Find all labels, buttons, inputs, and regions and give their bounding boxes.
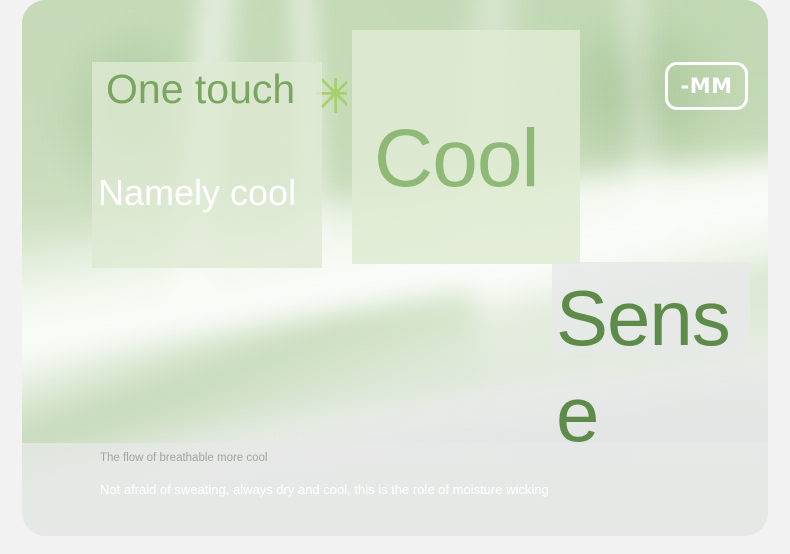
fabric-photo: ✳ One touch Namely cool Cool Sense -MM T… <box>22 0 768 536</box>
headline-cool: Cool <box>374 118 539 200</box>
promo-banner-root: ✳ One touch Namely cool Cool Sense -MM T… <box>0 0 790 554</box>
headline-sense: Sense <box>556 270 742 462</box>
brand-badge: -MM <box>665 62 748 110</box>
caption-secondary: The flow of breathable more cool <box>100 450 267 466</box>
brand-badge-label: -MM <box>680 74 732 98</box>
caption-primary: Not afraid of sweating, always dry and c… <box>100 481 549 499</box>
headline-one-touch: One touch <box>106 64 321 114</box>
headline-namely-cool: Namely cool <box>98 170 323 215</box>
